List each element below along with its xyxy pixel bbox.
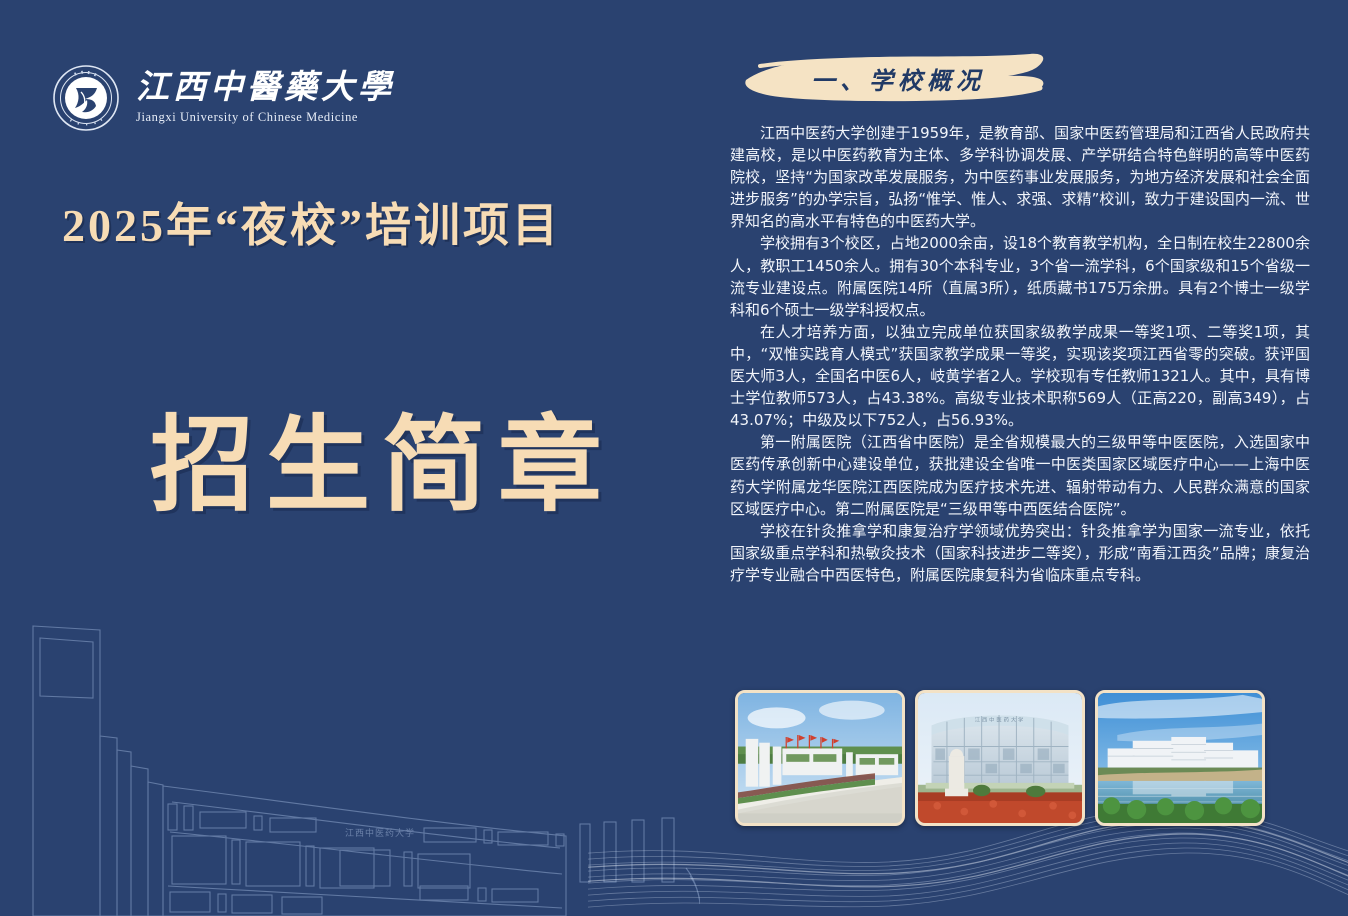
cover-left-column: 江西中醫藥大學 Jiangxi University of Chinese Me…: [0, 0, 700, 916]
brand-name-english: Jiangxi University of Chinese Medicine: [136, 110, 395, 125]
page-title: 招生简章: [150, 415, 614, 519]
paragraph-3: 在人才培养方面，以独立完成单位获国家级教学成果一等奖1项、二等奖1项，其中，“双…: [730, 321, 1310, 431]
content-right-column: 一、学校概况 江西中医药大学创建于1959年，是教育部、国家中医药管理局和江西省…: [700, 0, 1348, 916]
section-banner: 一、学校概况: [740, 52, 1050, 104]
campus-photo-strip: 江西中医药大学: [735, 690, 1265, 826]
poster-page: 江西中医药大学: [0, 0, 1348, 916]
university-brand: 江西中醫藥大學 Jiangxi University of Chinese Me…: [52, 64, 395, 132]
paragraph-1: 江西中医药大学创建于1959年，是教育部、国家中医药管理局和江西省人民政府共建高…: [730, 122, 1310, 232]
paragraph-4: 第一附属医院（江西省中医院）是全省规模最大的三级甲等中医医院，入选国家中医药传承…: [730, 431, 1310, 519]
campus-building-photo: 江西中医药大学: [915, 690, 1085, 826]
program-headline: 2025年“夜校”培训项目: [62, 189, 561, 255]
school-overview-text: 江西中医药大学创建于1959年，是教育部、国家中医药管理局和江西省人民政府共建高…: [730, 122, 1310, 586]
campus-gate-photo: [735, 690, 905, 826]
paragraph-2: 学校拥有3个校区，占地2000余亩，设18个教育教学机构，全日制在校生22800…: [730, 232, 1310, 320]
brand-name-chinese: 江西中醫藥大學: [136, 71, 395, 106]
campus-lakeside-photo: [1095, 690, 1265, 826]
paragraph-5: 学校在针灸推拿学和康复治疗学领域优势突出：针灸推拿学为国家一流专业，依托国家级重…: [730, 520, 1310, 586]
svg-text:江西中医药大学: 江西中医药大学: [975, 716, 1026, 724]
section-banner-label: 一、学校概况: [740, 52, 1050, 104]
university-emblem-icon: [52, 64, 120, 132]
